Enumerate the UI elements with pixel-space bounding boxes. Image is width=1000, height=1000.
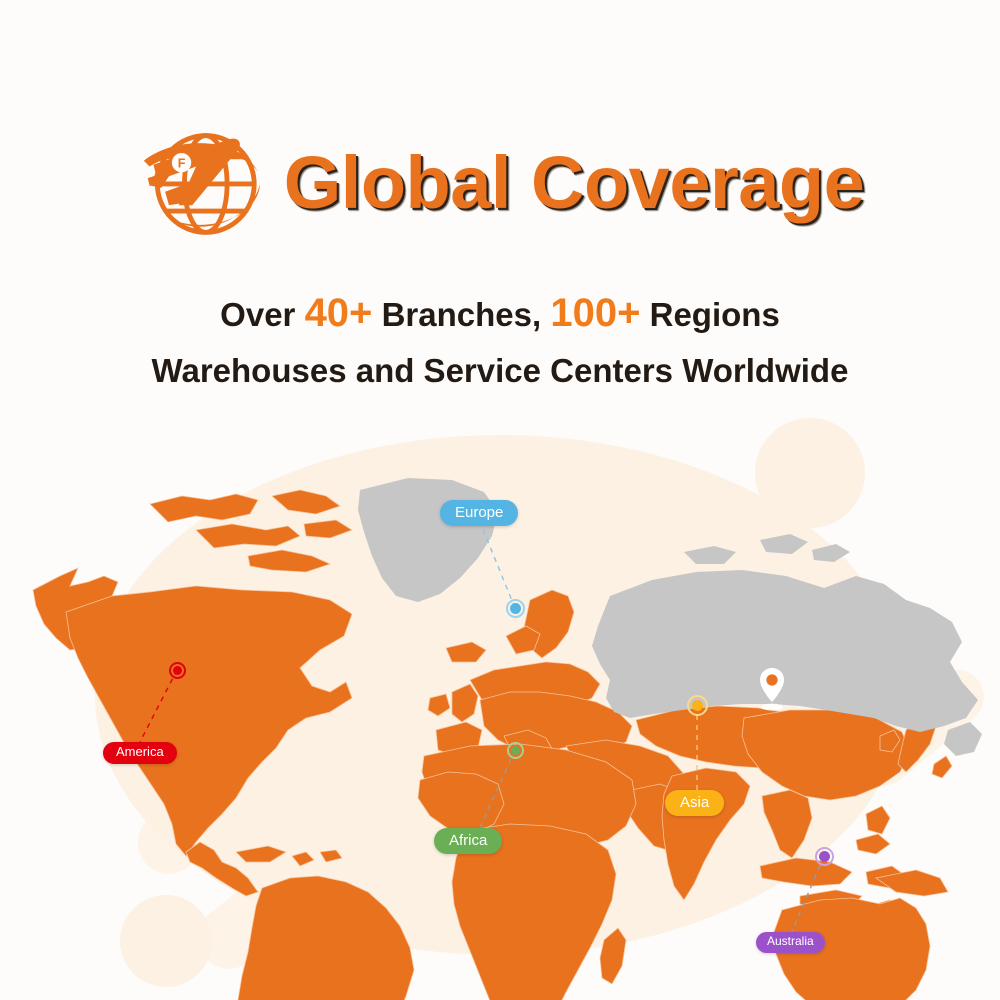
subtitle-line-1: Over 40+ Branches, 100+ Regions bbox=[0, 291, 1000, 336]
subtitle-text-branches: Branches, bbox=[372, 296, 550, 333]
world-map bbox=[0, 400, 1000, 1000]
subtitle-text-regions: Regions bbox=[640, 296, 779, 333]
marker-dot-europe[interactable] bbox=[510, 603, 521, 614]
marker-dot-africa[interactable] bbox=[511, 746, 520, 755]
globe-airplane-icon: F bbox=[136, 122, 262, 244]
subtitle-text-over: Over bbox=[220, 296, 304, 333]
stat-regions: 100+ bbox=[550, 291, 640, 335]
map-label-europe[interactable]: Europe bbox=[440, 500, 518, 526]
page-title: Global Coverage bbox=[284, 146, 865, 220]
map-label-asia[interactable]: Asia bbox=[665, 790, 724, 816]
stat-branches: 40+ bbox=[305, 291, 373, 335]
title-row: F Global Coverage bbox=[0, 122, 1000, 244]
svg-text:F: F bbox=[177, 157, 185, 171]
map-label-africa[interactable]: Africa bbox=[434, 828, 502, 854]
subtitle-line-2: Warehouses and Service Centers Worldwide bbox=[0, 352, 1000, 390]
marker-dot-asia[interactable] bbox=[692, 700, 703, 711]
map-label-australia[interactable]: Australia bbox=[756, 932, 825, 953]
marker-dot-america[interactable] bbox=[173, 666, 182, 675]
map-label-america[interactable]: America bbox=[103, 742, 177, 764]
world-map-svg bbox=[0, 400, 1000, 1000]
marker-dot-australia[interactable] bbox=[819, 851, 830, 862]
